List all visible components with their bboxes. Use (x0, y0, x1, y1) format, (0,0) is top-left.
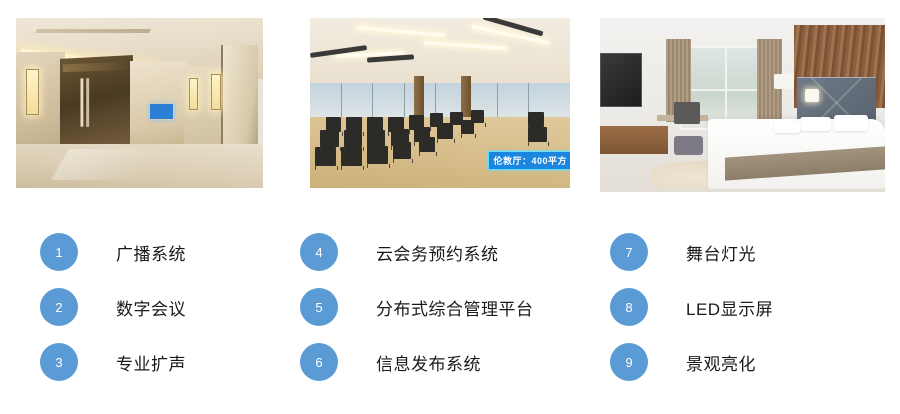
item-label: 舞台灯光 (686, 240, 756, 265)
item-label: 云会务预约系统 (376, 240, 499, 265)
list-item[interactable]: 9 景观亮化 (610, 342, 756, 382)
door-handle-secondary (86, 78, 89, 127)
item-number-badge: 9 (610, 343, 648, 381)
item-number-badge: 8 (610, 288, 648, 326)
list-item[interactable]: 6 信息发布系统 (300, 342, 481, 382)
item-label: 专业扩声 (116, 350, 186, 375)
item-number-badge: 3 (40, 343, 78, 381)
item-label: 分布式综合管理平台 (376, 295, 534, 320)
floor-lamp (774, 74, 794, 90)
hall-caption-badge: 伦敦厅：400平方 (488, 151, 570, 170)
photo-gallery: 伦敦厅：400平方 (0, 0, 900, 205)
feature-column-1: 1 广播系统 2 数字会议 3 专业扩声 (40, 205, 340, 414)
item-label: 景观亮化 (686, 350, 756, 375)
ottoman (674, 136, 703, 155)
item-number-badge: 5 (300, 288, 338, 326)
door-handle (81, 78, 84, 127)
room-scene (600, 18, 885, 192)
guest-room-photo[interactable] (600, 18, 885, 192)
feature-column-2: 4 云会务预约系统 5 分布式综合管理平台 6 信息发布系统 (300, 205, 600, 414)
item-label: 数字会议 (116, 295, 186, 320)
polished-floor (16, 144, 263, 188)
credenza (600, 126, 668, 154)
wall-sconce-icon (211, 74, 220, 110)
hall-scene: 伦敦厅：400平方 (310, 18, 570, 188)
television (600, 53, 642, 107)
item-number-badge: 7 (610, 233, 648, 271)
elevator-lobby-photo[interactable] (16, 18, 263, 188)
list-item[interactable]: 8 LED显示屏 (610, 287, 773, 327)
list-item[interactable]: 2 数字会议 (40, 287, 186, 327)
item-label: 信息发布系统 (376, 350, 481, 375)
wall-sconce-icon (189, 78, 198, 111)
list-item[interactable]: 1 广播系统 (40, 232, 186, 272)
feature-column-3: 7 舞台灯光 8 LED显示屏 9 景观亮化 (610, 205, 900, 414)
elevator-doors (60, 55, 133, 154)
item-number-badge: 1 (40, 233, 78, 271)
ceiling (310, 18, 570, 86)
desk-chair (674, 102, 700, 125)
elevator-header (63, 61, 127, 72)
item-number-badge: 2 (40, 288, 78, 326)
pillow (800, 117, 831, 131)
list-item[interactable]: 3 专业扩声 (40, 342, 186, 382)
item-label: LED显示屏 (686, 295, 773, 320)
pillow (834, 115, 868, 131)
item-number-badge: 6 (300, 343, 338, 381)
item-number-badge: 4 (300, 233, 338, 271)
feature-list: 1 广播系统 2 数字会议 3 专业扩声 4 云会务预约系统 5 分布式综合管理… (0, 205, 900, 414)
lobby-scene (16, 18, 263, 188)
list-item[interactable]: 5 分布式综合管理平台 (300, 287, 534, 327)
item-label: 广播系统 (116, 240, 186, 265)
conference-hall-photo[interactable]: 伦敦厅：400平方 (310, 18, 570, 188)
list-item[interactable]: 4 云会务预约系统 (300, 232, 499, 272)
list-item[interactable]: 7 舞台灯光 (610, 232, 756, 272)
pillow (774, 121, 800, 133)
bedside-lamp (805, 89, 819, 101)
wall-display-screen (149, 103, 173, 120)
wall-sconce-icon (26, 69, 39, 115)
